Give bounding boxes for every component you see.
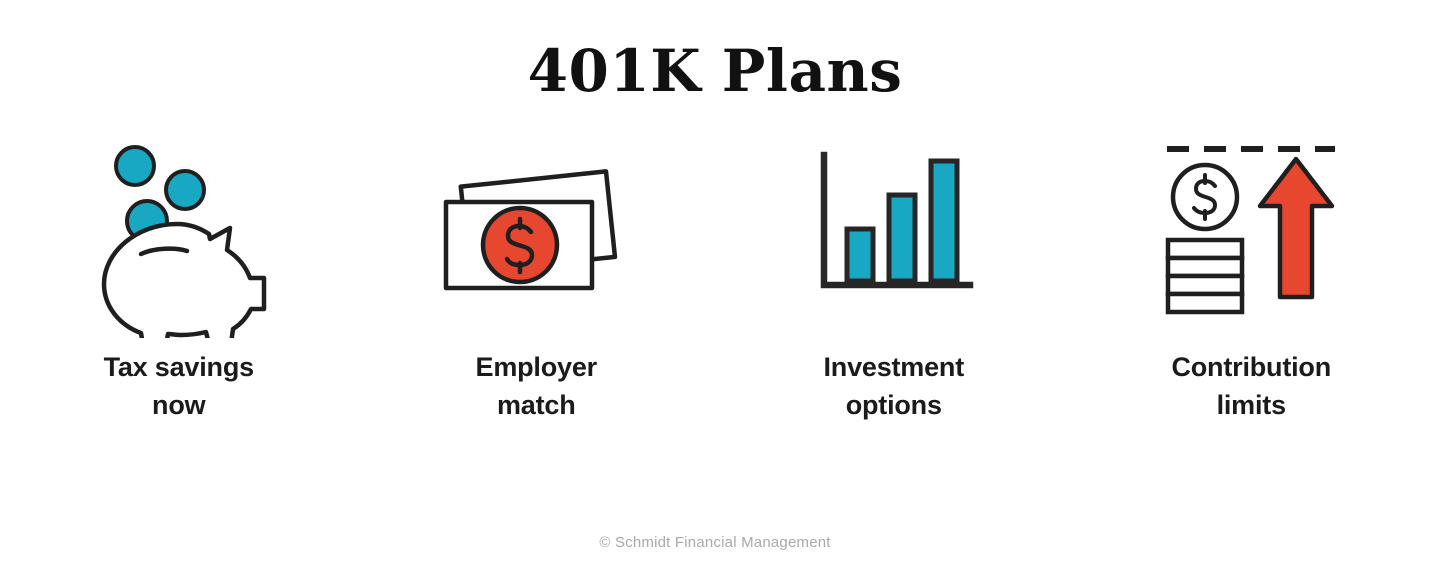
icon-columns: Tax savings now [0, 130, 1430, 440]
banknotes-coin-icon [431, 130, 641, 340]
column-investment-options: Investment options [729, 130, 1059, 425]
column-employer-match: Employer match [371, 130, 701, 425]
caption-tax-savings: Tax savings now [104, 348, 254, 425]
column-tax-savings: Tax savings now [14, 130, 344, 425]
contribution-limit-icon [1146, 130, 1356, 340]
page-title: 401K Plans [0, 40, 1430, 104]
column-contribution-limits: Contribution limits [1086, 130, 1416, 425]
caption-employer-match: Employer match [476, 348, 597, 425]
caption-investment-options: Investment options [823, 348, 964, 425]
infographic-slide: 401K Plans [0, 0, 1430, 581]
bar-chart-icon [789, 130, 999, 340]
piggy-bank-icon [74, 130, 284, 340]
copyright-footer: © Schmidt Financial Management [0, 534, 1430, 551]
caption-contribution-limits: Contribution limits [1171, 348, 1331, 425]
